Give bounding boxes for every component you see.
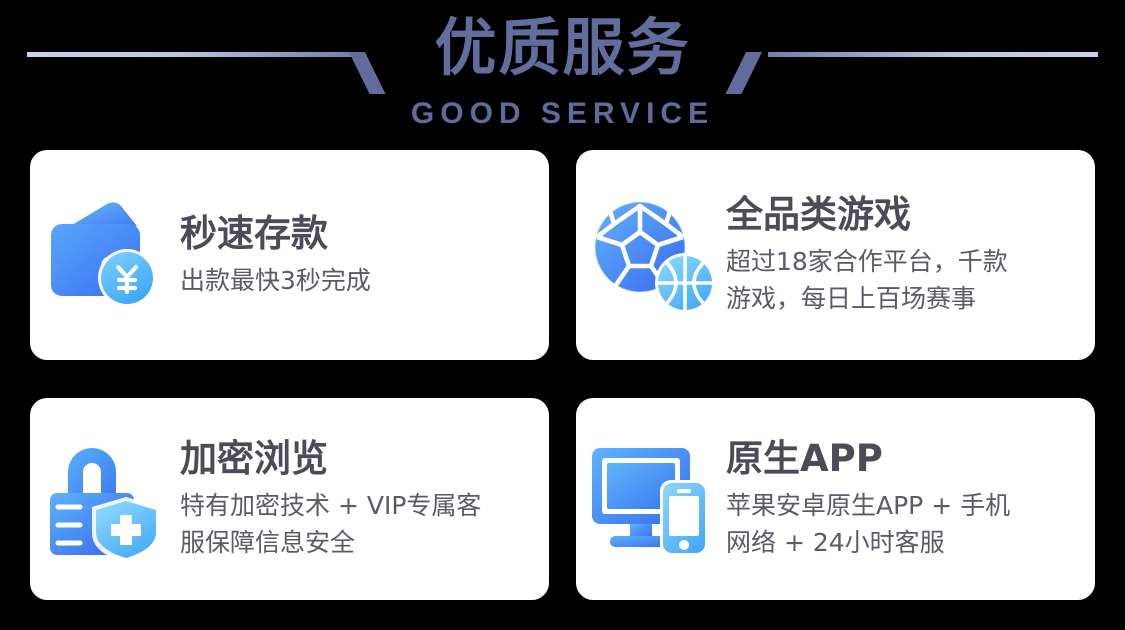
- page-title: 优质服务: [0, 8, 1125, 88]
- feature-card-title: 加密浏览: [180, 437, 531, 481]
- feature-card-title: 全品类游戏: [726, 193, 1077, 237]
- feature-card-grid: 秒速存款 出款最快3秒完成: [30, 150, 1095, 600]
- soccer-ball-icon: [576, 150, 726, 360]
- page-subtitle: GOOD SERVICE: [0, 96, 1125, 132]
- feature-card-text: 全品类游戏 超过18家合作平台，千款 游戏，每日上百场赛事: [726, 193, 1095, 317]
- feature-card-description-line: 网络 + 24小时客服: [726, 524, 1077, 561]
- feature-card-text: 加密浏览 特有加密技术 + VIP专属客 服保障信息安全: [180, 437, 549, 561]
- feature-card-title: 秒速存款: [180, 212, 531, 256]
- feature-card-description: 超过18家合作平台，千款 游戏，每日上百场赛事: [726, 243, 1077, 317]
- feature-card-title: 原生APP: [726, 437, 1077, 481]
- feature-card-description-line: 服保障信息安全: [180, 524, 531, 561]
- feature-card-description-line: 出款最快3秒完成: [180, 262, 531, 299]
- feature-card-description: 出款最快3秒完成: [180, 262, 531, 299]
- feature-card-text: 秒速存款 出款最快3秒完成: [180, 212, 549, 299]
- feature-card-description-line: 特有加密技术 + VIP专属客: [180, 487, 531, 524]
- feature-card-native-app[interactable]: 原生APP 苹果安卓原生APP + 手机 网络 + 24小时客服: [576, 398, 1095, 600]
- feature-card-description-line: 超过18家合作平台，千款: [726, 243, 1077, 280]
- feature-card-description-line: 游戏，每日上百场赛事: [726, 280, 1077, 317]
- feature-card-description: 特有加密技术 + VIP专属客 服保障信息安全: [180, 487, 531, 561]
- wallet-icon: [30, 150, 180, 360]
- feature-card-description-line: 苹果安卓原生APP + 手机: [726, 487, 1077, 524]
- lock-shield-icon: [30, 398, 180, 600]
- feature-card-deposit[interactable]: 秒速存款 出款最快3秒完成: [30, 150, 549, 360]
- feature-card-description: 苹果安卓原生APP + 手机 网络 + 24小时客服: [726, 487, 1077, 561]
- feature-card-encryption[interactable]: 加密浏览 特有加密技术 + VIP专属客 服保障信息安全: [30, 398, 549, 600]
- page-header: 优质服务 GOOD SERVICE: [0, 0, 1125, 145]
- feature-card-games[interactable]: 全品类游戏 超过18家合作平台，千款 游戏，每日上百场赛事: [576, 150, 1095, 360]
- feature-card-text: 原生APP 苹果安卓原生APP + 手机 网络 + 24小时客服: [726, 437, 1095, 561]
- monitor-phone-icon: [576, 398, 726, 600]
